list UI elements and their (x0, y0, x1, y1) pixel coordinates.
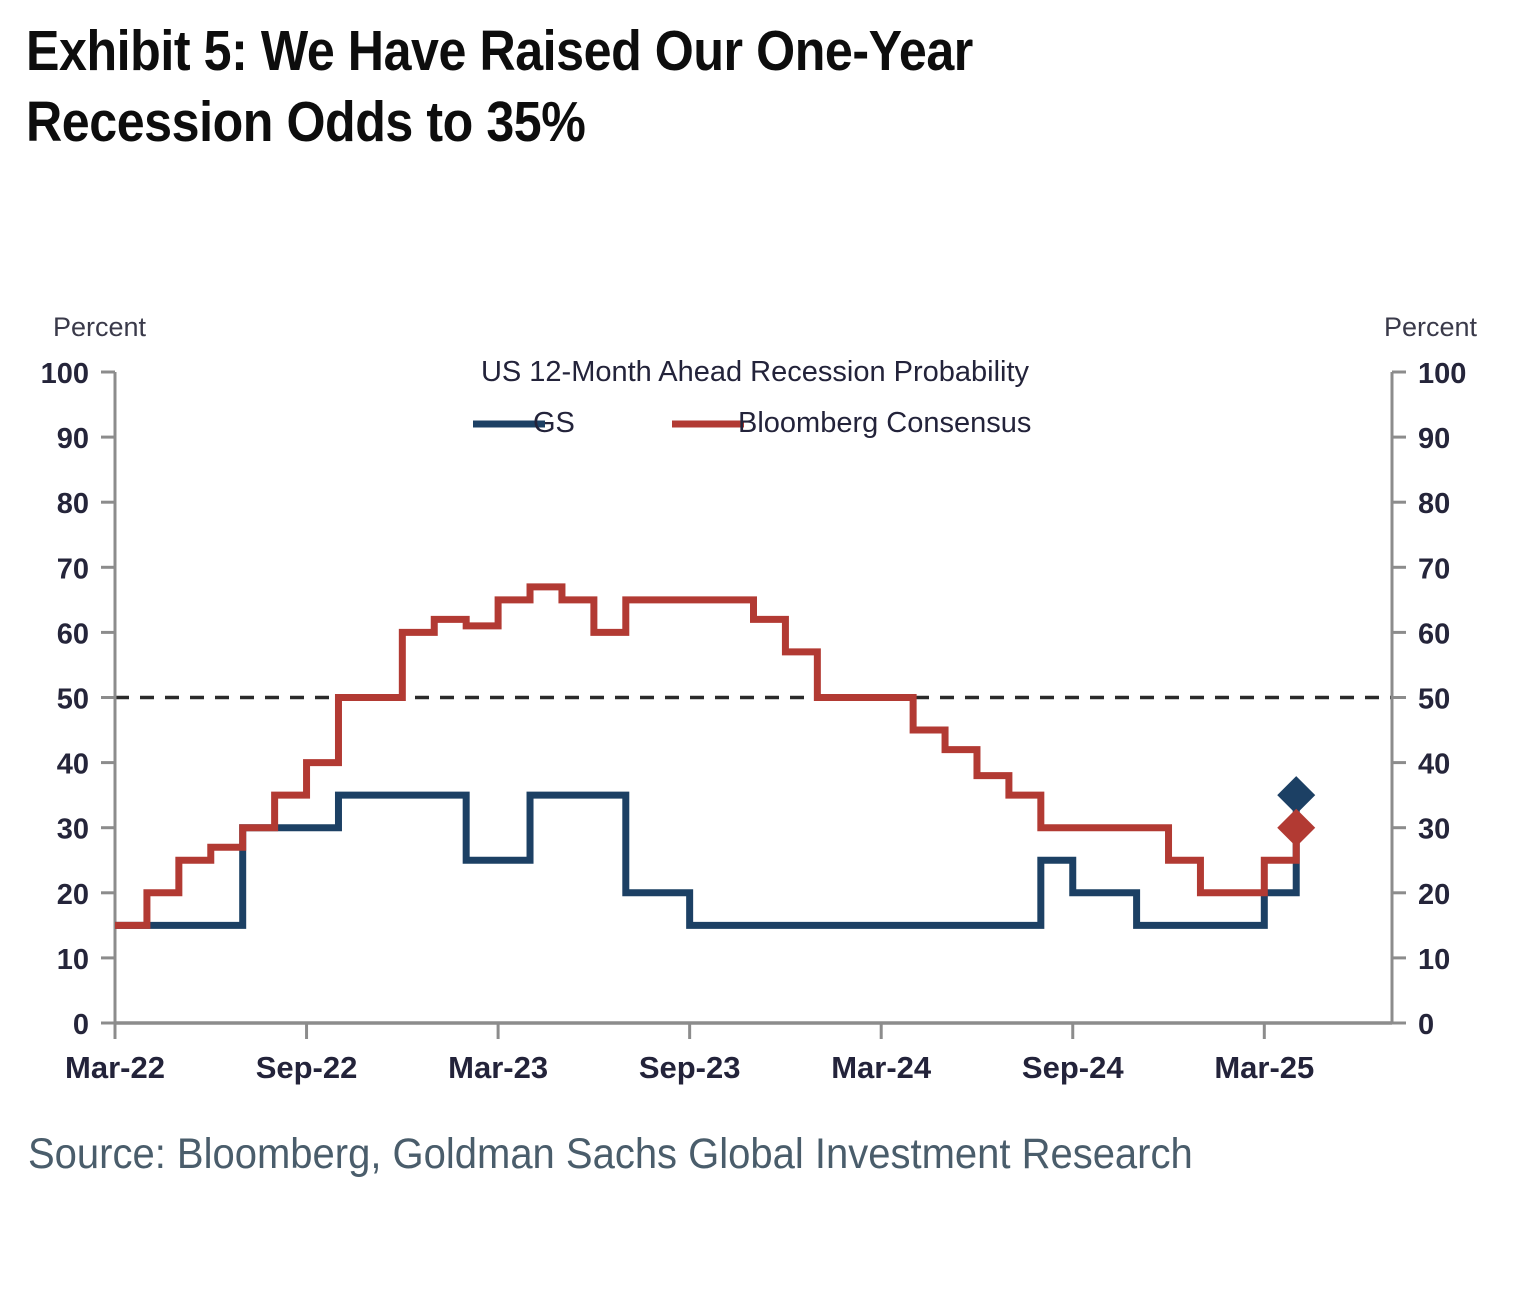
y-tick-label-left: 30 (57, 814, 89, 846)
y-tick-label-right: 40 (1418, 749, 1450, 781)
series-line-gs (115, 795, 1296, 925)
end-marker-gs (1277, 776, 1315, 814)
chart-page: Exhibit 5: We Have Raised Our One-Year R… (0, 0, 1518, 1292)
y-tick-label-left: 0 (73, 1009, 89, 1041)
y-tick-label-left: 90 (57, 423, 89, 455)
right-axis-unit: Percent (1384, 312, 1478, 342)
x-tick-label: Sep-23 (639, 1050, 741, 1085)
page-title: Exhibit 5: We Have Raised Our One-Year R… (26, 16, 1170, 158)
y-tick-label-left: 40 (57, 749, 89, 781)
left-axis-unit: Percent (53, 312, 147, 342)
y-tick-label-right: 10 (1418, 944, 1450, 976)
y-tick-label-left: 100 (41, 358, 89, 390)
x-tick-label: Sep-24 (1022, 1050, 1124, 1085)
y-tick-label-right: 80 (1418, 488, 1450, 520)
recession-probability-chart: 1001009090808070706060505040403030202010… (0, 296, 1518, 1096)
y-tick-label-right: 0 (1418, 1009, 1434, 1041)
series-line-bloomberg (115, 587, 1296, 926)
legend-label-bloomberg[interactable]: Bloomberg Consensus (738, 407, 1031, 439)
y-tick-label-left: 10 (57, 944, 89, 976)
y-tick-label-left: 60 (57, 618, 89, 650)
x-tick-label: Mar-22 (65, 1050, 165, 1085)
y-tick-label-left: 20 (57, 879, 89, 911)
y-tick-label-right: 20 (1418, 879, 1450, 911)
legend-title: US 12-Month Ahead Recession Probability (481, 356, 1030, 388)
source-note: Source: Bloomberg, Goldman Sachs Global … (28, 1128, 1349, 1181)
y-tick-label-right: 60 (1418, 618, 1450, 650)
y-tick-label-right: 100 (1418, 358, 1466, 390)
y-tick-label-left: 50 (57, 684, 89, 716)
x-tick-label: Sep-22 (256, 1050, 358, 1085)
legend-label-gs[interactable]: GS (533, 407, 575, 439)
y-tick-label-right: 50 (1418, 684, 1450, 716)
x-tick-label: Mar-25 (1214, 1050, 1314, 1085)
y-tick-label-left: 80 (57, 488, 89, 520)
chart-container: 1001009090808070706060505040403030202010… (0, 296, 1518, 1096)
x-tick-label: Mar-24 (831, 1050, 932, 1085)
y-tick-label-right: 30 (1418, 814, 1450, 846)
end-marker-bloomberg (1277, 809, 1315, 847)
y-tick-label-right: 90 (1418, 423, 1450, 455)
y-tick-label-right: 70 (1418, 553, 1450, 585)
x-tick-label: Mar-23 (448, 1050, 548, 1085)
y-tick-label-left: 70 (57, 553, 89, 585)
